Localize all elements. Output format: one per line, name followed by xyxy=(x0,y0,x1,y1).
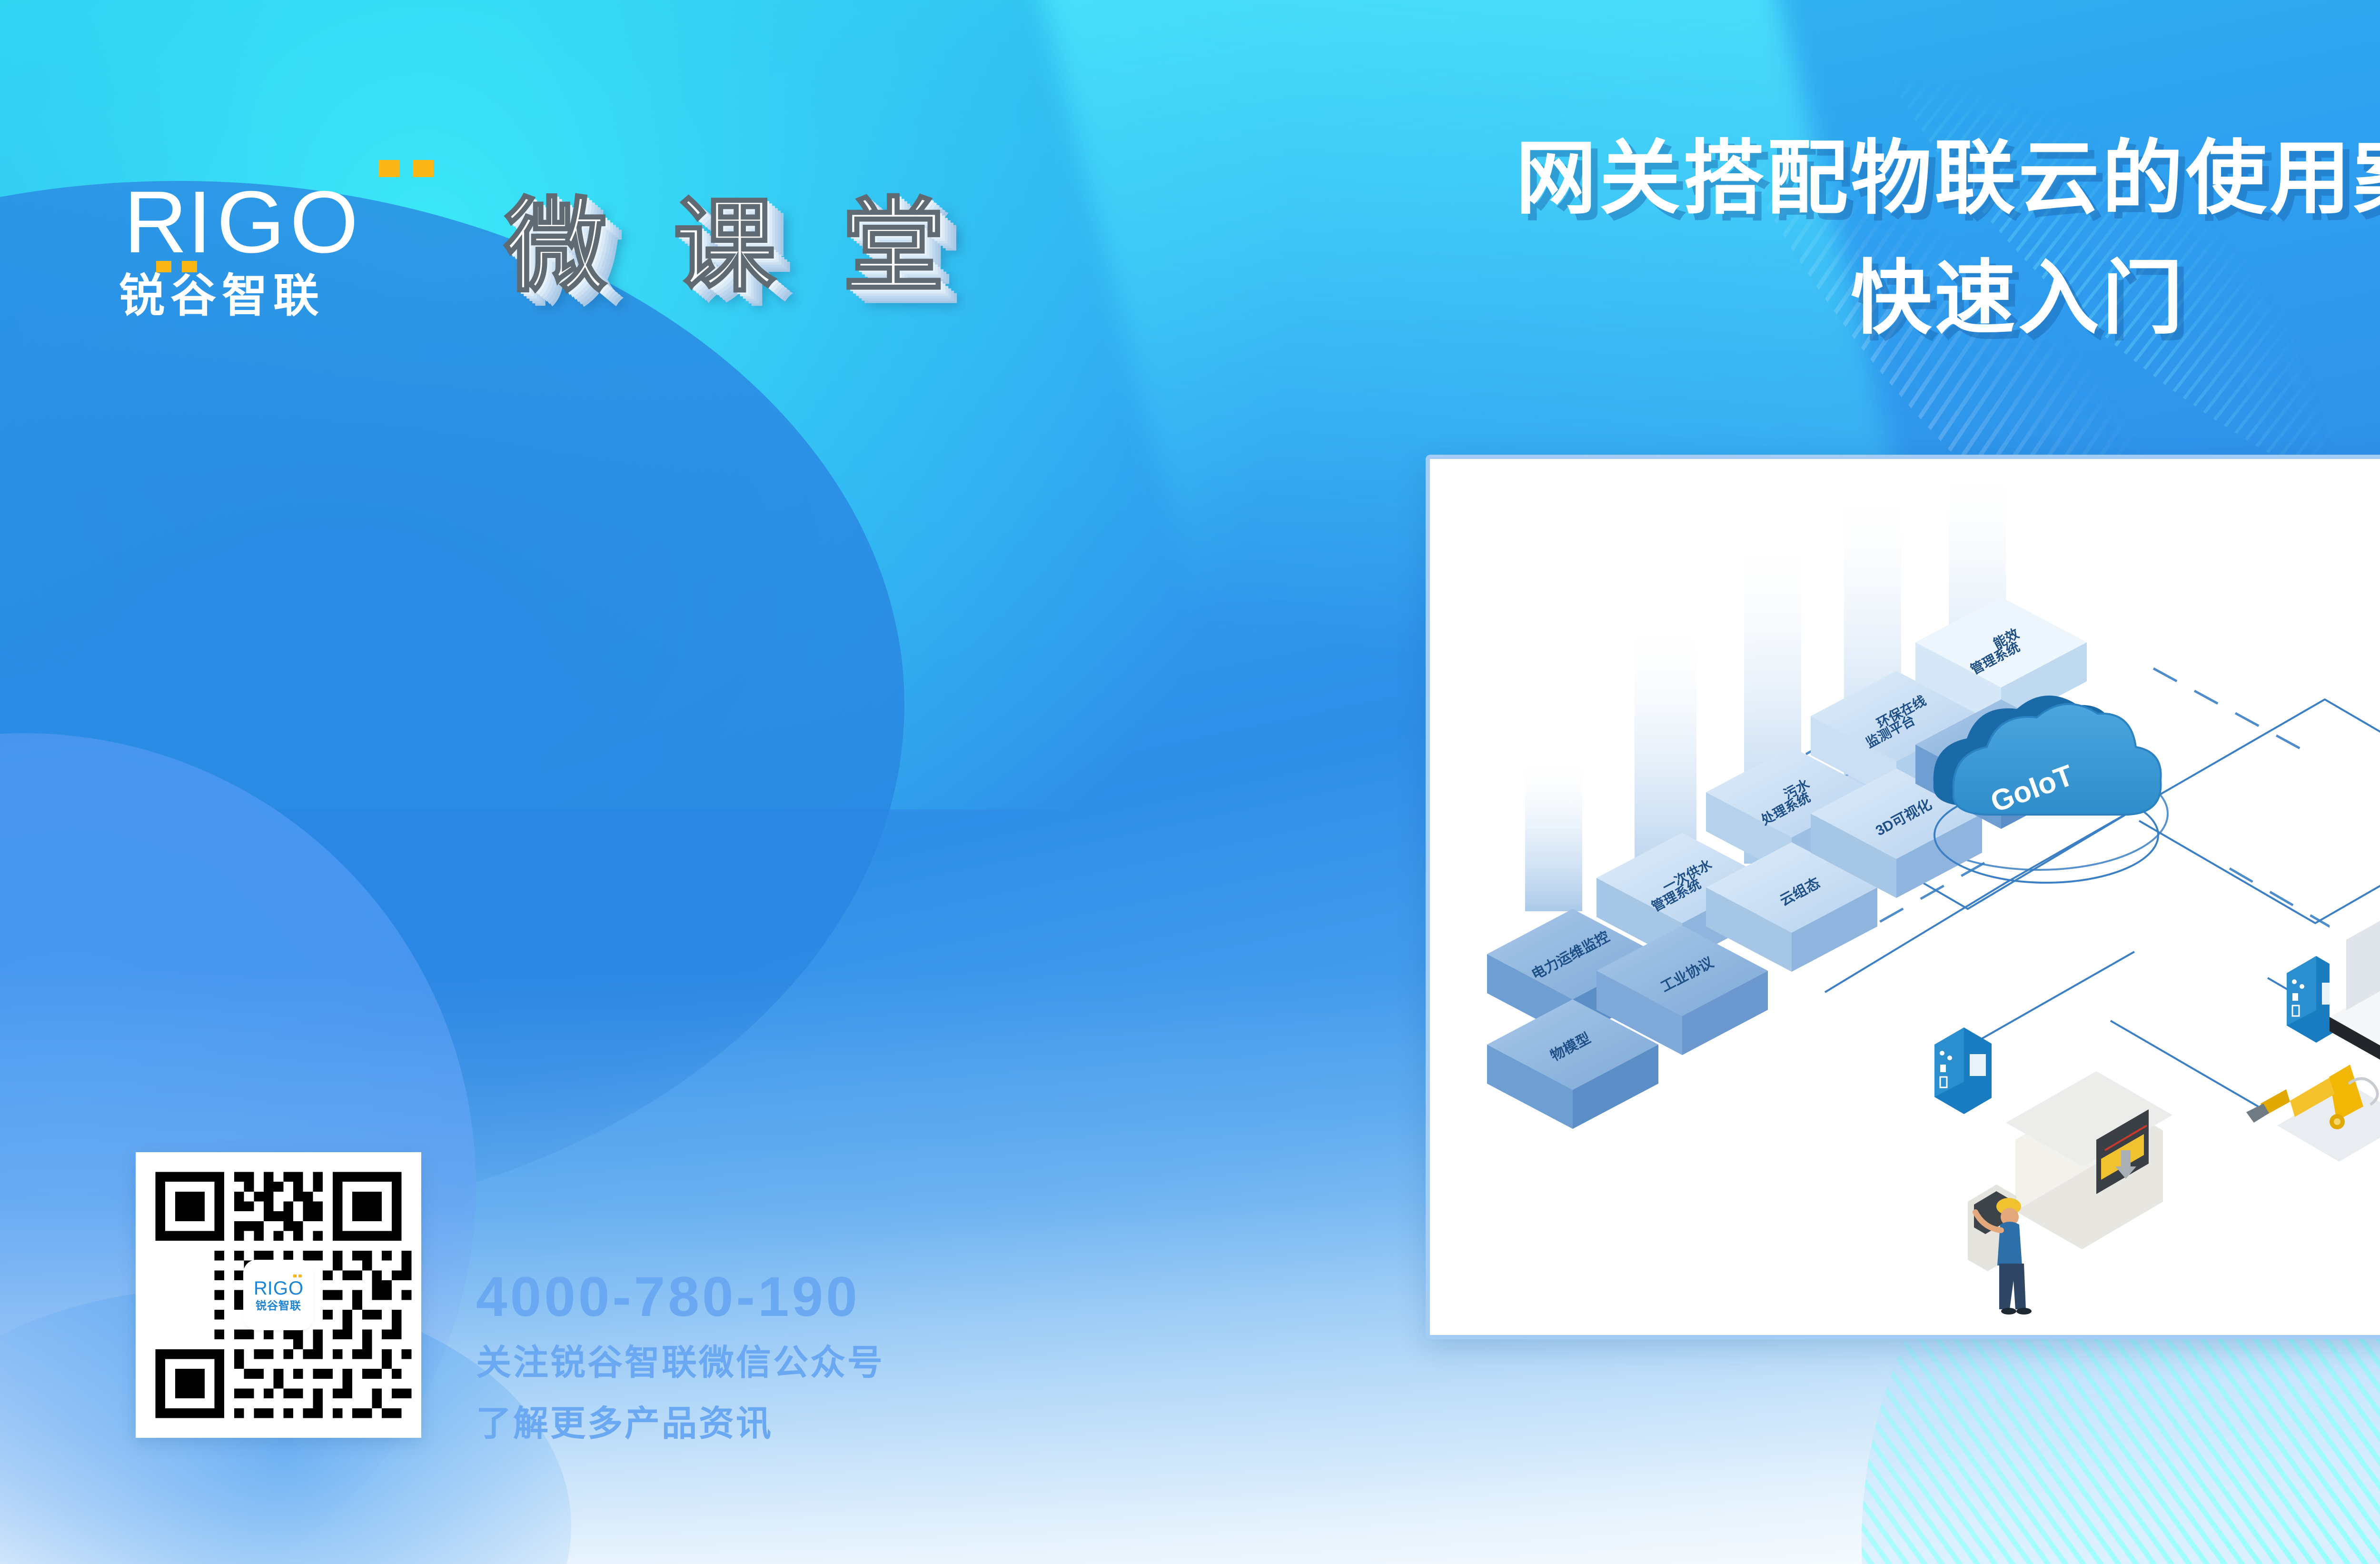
hotline-number: 4000-780-190 xyxy=(476,1269,1190,1325)
background-blob-bottom-left xyxy=(0,733,476,1564)
background-blob-center-left xyxy=(0,181,904,1228)
qr-center-logo: ЯIGO 锐谷智联 xyxy=(246,1263,311,1327)
iot-architecture-diagram: 电力运维监控 物模型 一次供水 管理系统 xyxy=(1430,459,2380,1335)
qr-logo-wordmark: ЯIGO xyxy=(253,1279,304,1298)
page-subtitle: 快速入门 xyxy=(1409,253,2380,344)
wechat-qr-card[interactable]: ЯIGO 锐谷智联 xyxy=(136,1152,421,1438)
follow-wechat-label: 关注锐谷智联微信公众号 xyxy=(476,1339,1190,1386)
poster-canvas: ЯIGO 锐谷智联 微 课 堂 网关搭配物联云的使用案例 快速入门 xyxy=(0,0,2380,1564)
umlaut-dots-icon xyxy=(378,160,434,177)
qr-logo-umlaut-icon xyxy=(293,1275,302,1277)
gateway-device-icon xyxy=(1934,1027,1992,1114)
rigo-logo-chinese-name: 锐谷智联 xyxy=(119,272,481,320)
rigo-logo-chinese-text: 锐谷智联 xyxy=(119,270,325,321)
umlaut-dots-small-icon xyxy=(156,261,197,272)
page-title: 网关搭配物联云的使用案例 xyxy=(1409,133,2380,224)
series-title: 微 课 堂 xyxy=(505,195,963,298)
qr-logo-rest: IGO xyxy=(268,1278,304,1299)
diagram-panel: 电力运维监控 物模型 一次供水 管理系统 xyxy=(1426,455,2380,1339)
industrial-cabinet-icon xyxy=(2330,459,2380,1074)
qr-logo-r: Я xyxy=(253,1279,268,1298)
machine-with-operator-icon xyxy=(1968,1071,2172,1315)
background-glow-top-left xyxy=(0,0,1285,809)
title-group: 网关搭配物联云的使用案例 快速入门 xyxy=(1409,133,2380,344)
rigo-wordmark-r: Я xyxy=(119,181,188,265)
robot-arm-icon xyxy=(2246,1065,2380,1162)
contact-block: 4000-780-190 关注锐谷智联微信公众号 了解更多产品资讯 xyxy=(476,1269,1190,1446)
rigo-logo: ЯIGO 锐谷智联 xyxy=(119,181,481,320)
rigo-wordmark-rest: IGO xyxy=(188,173,363,271)
more-product-info-label: 了解更多产品资讯 xyxy=(476,1400,1190,1447)
rigo-wordmark: ЯIGO xyxy=(119,181,481,265)
qr-logo-chinese: 锐谷智联 xyxy=(256,1300,301,1311)
